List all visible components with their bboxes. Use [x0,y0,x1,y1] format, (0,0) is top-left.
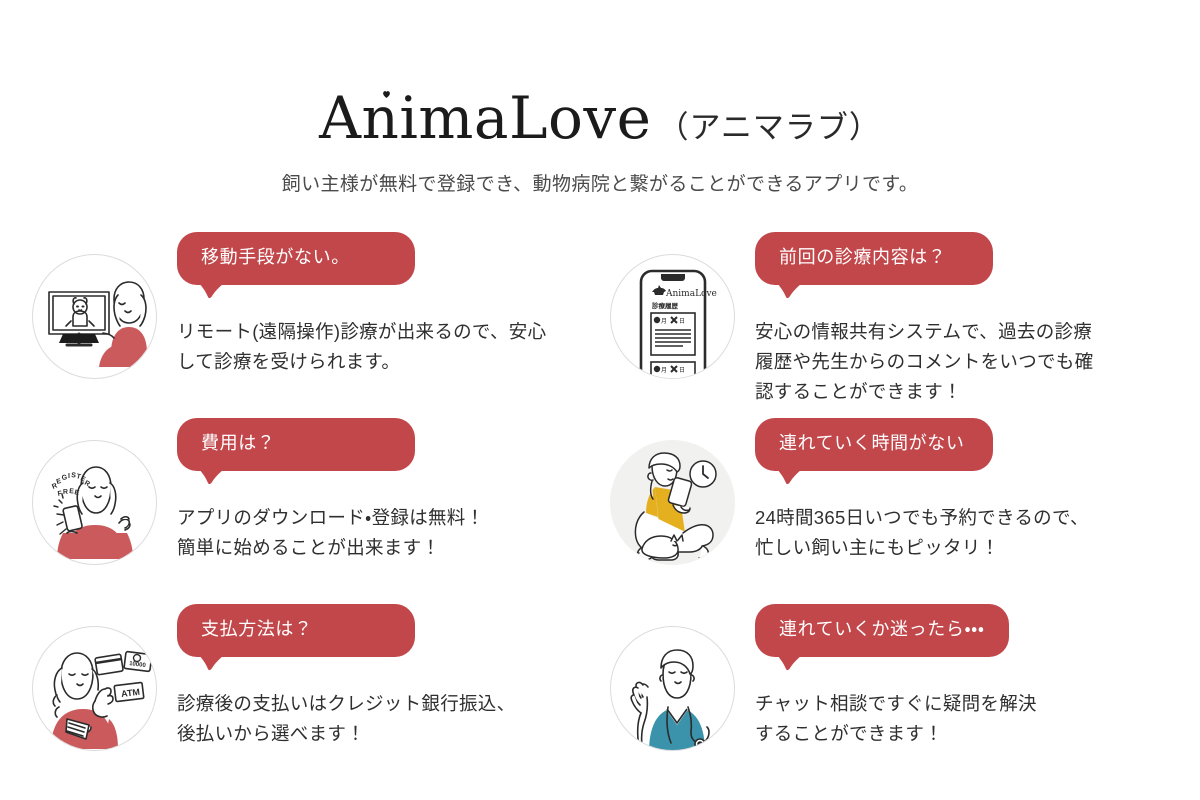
video-call-illustration [32,254,157,379]
feature-bubble-text: 連れていく時間がない [779,433,964,453]
feature-description: チャット相談ですぐに疑問を解決 することができます！ [755,689,1188,749]
svg-text:R: R [63,489,68,496]
feature-card-payment: 10000 ATM 支払方法は？ [32,604,610,790]
brand-lockup: AnimaLove （アニマラブ） [0,88,1200,149]
feature-card-remote-care: 移動手段がない。 リモート(遠隔操作)診療が出来るので、安心 して診療を受けられ… [32,232,610,418]
feature-body: 前回の診療内容は？ 安心の情報共有システムで、過去の診療 履歴や先生からのコメン… [735,232,1188,407]
payment-methods-illustration: 10000 ATM [32,626,157,751]
feature-bubble-text: 移動手段がない。 [201,247,350,267]
bubble-tail-icon [775,465,819,491]
svg-text:月: 月 [661,367,667,374]
page-subtitle: 飼い主様が無料で登録でき、動物病院と繋がることができるアプリです。 [0,169,1200,196]
brand-title: AnimaLove [319,88,651,149]
page-header: AnimaLove （アニマラブ） 飼い主様が無料で登録でき、動物病院と繋がるこ… [0,88,1200,196]
feature-body: 移動手段がない。 リモート(遠隔操作)診療が出来るので、安心 して診療を受けられ… [157,232,610,377]
feature-bubble-text: 支払方法は？ [201,619,313,639]
feature-bubble: 連れていくか迷ったら・・・ [755,604,1009,657]
bubble-tail-icon [775,279,819,305]
feature-description: アプリのダウンロード・登録は無料！ 簡単に始めることが出来ます！ [177,503,610,563]
feature-body: 連れていく時間がない 24時間365日いつでも予約できるので、 忙しい飼い主にも… [735,418,1188,563]
bubble-tail-icon [197,465,241,491]
feature-card-chat-consult: 連れていくか迷ったら・・・ チャット相談ですぐに疑問を解決 することができます！ [610,604,1188,790]
svg-text:AnimaLove: AnimaLove [665,289,717,299]
feature-card-cost: R E G I S T E R F R E E [32,418,610,604]
feature-body: 費用は？ アプリのダウンロード・登録は無料！ 簡単に始めることが出来ます！ [157,418,610,563]
bubble-tail-icon [197,651,241,677]
landing-page: AnimaLove （アニマラブ） 飼い主様が無料で登録でき、動物病院と繋がるこ… [0,0,1200,800]
brand-title-text: AnimaLove [319,84,651,152]
phone-history-illustration: AnimaLove 診療履歴 月 日 [610,254,735,379]
svg-text:日: 日 [679,367,685,374]
vet-waving-illustration [610,626,735,751]
feature-bubble-text: 前回の診療内容は？ [779,247,946,267]
register-free-illustration: R E G I S T E R F R E E [32,440,157,565]
feature-bubble-text: 連れていくか迷ったら・・・ [779,619,985,639]
feature-card-no-time: 連れていく時間がない 24時間365日いつでも予約できるので、 忙しい飼い主にも… [610,418,1188,604]
bubble-tail-icon [197,279,241,305]
feature-bubble-text: 費用は？ [201,433,275,453]
feature-bubble: 費用は？ [177,418,415,471]
feature-description: リモート(遠隔操作)診療が出来るので、安心 して診療を受けられます。 [177,317,610,377]
feature-bubble: 前回の診療内容は？ [755,232,993,285]
svg-text:月: 月 [661,318,667,325]
svg-text:日: 日 [679,318,685,325]
feature-bubble: 連れていく時間がない [755,418,993,471]
woman-phone-clock-cat-illustration [610,440,735,565]
svg-text:診療履歴: 診療履歴 [652,301,679,310]
feature-bubble: 移動手段がない。 [177,232,415,285]
feature-description: 24時間365日いつでも予約できるので、 忙しい飼い主にもピッタリ！ [755,503,1188,563]
feature-grid: 移動手段がない。 リモート(遠隔操作)診療が出来るので、安心 して診療を受けられ… [0,232,1200,790]
feature-body: 支払方法は？ 診療後の支払いはクレジット銀行振込、 後払いから選べます！ [157,604,610,749]
feature-card-medical-history: AnimaLove 診療履歴 月 日 [610,232,1188,418]
feature-description: 診療後の支払いはクレジット銀行振込、 後払いから選べます！ [177,689,610,749]
svg-text:I: I [68,473,70,480]
feature-bubble: 支払方法は？ [177,604,415,657]
feature-body: 連れていくか迷ったら・・・ チャット相談ですぐに疑問を解決 することができます！ [735,604,1188,749]
bubble-tail-icon [775,651,819,677]
feature-description: 安心の情報共有システムで、過去の診療 履歴や先生からのコメントをいつでも確 認す… [755,317,1188,407]
heart-icon [382,90,391,99]
brand-kana: （アニマラブ） [658,102,881,147]
